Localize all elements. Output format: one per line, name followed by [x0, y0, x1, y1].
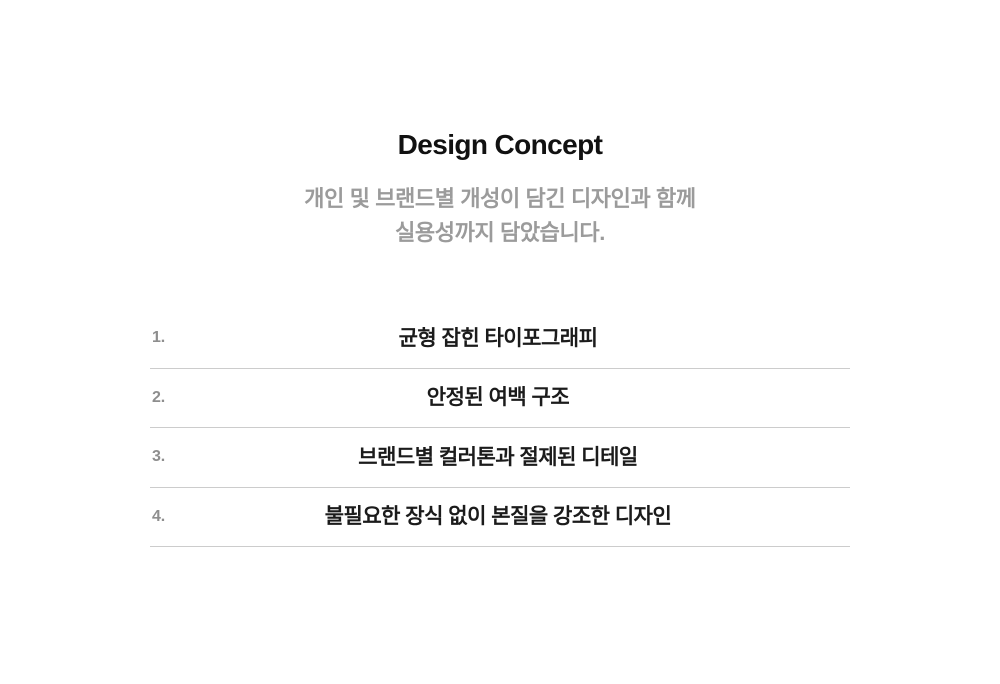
page-title: Design Concept: [0, 128, 1000, 162]
list-item-index: 1.: [152, 330, 165, 346]
list-item-label: 균형 잡힌 타이포그래피: [150, 326, 850, 351]
list-item-index: 4.: [152, 509, 165, 525]
design-concept-slide: Design Concept 개인 및 브랜드별 개성이 담긴 디자인과 함께 …: [0, 0, 1000, 684]
subtitle-line-2: 실용성까지 담았습니다.: [0, 216, 1000, 250]
list-item: 4. 불필요한 장식 없이 본질을 강조한 디자인: [150, 488, 850, 548]
list-item-label: 불필요한 장식 없이 본질을 강조한 디자인: [150, 504, 850, 529]
slide-header: Design Concept 개인 및 브랜드별 개성이 담긴 디자인과 함께 …: [0, 128, 1000, 250]
list-item-index: 2.: [152, 390, 165, 406]
subtitle-line-1: 개인 및 브랜드별 개성이 담긴 디자인과 함께: [0, 182, 1000, 216]
list-item: 1. 균형 잡힌 타이포그래피: [150, 309, 850, 369]
list-item: 3. 브랜드별 컬러톤과 절제된 디테일: [150, 428, 850, 488]
list-item: 2. 안정된 여백 구조: [150, 369, 850, 429]
list-item-label: 안정된 여백 구조: [150, 385, 850, 410]
slide-subtitle: 개인 및 브랜드별 개성이 담긴 디자인과 함께 실용성까지 담았습니다.: [0, 162, 1000, 250]
concept-list: 1. 균형 잡힌 타이포그래피 2. 안정된 여백 구조 3. 브랜드별 컬러톤…: [150, 309, 850, 547]
list-item-index: 3.: [152, 449, 165, 465]
list-item-label: 브랜드별 컬러톤과 절제된 디테일: [150, 445, 850, 470]
